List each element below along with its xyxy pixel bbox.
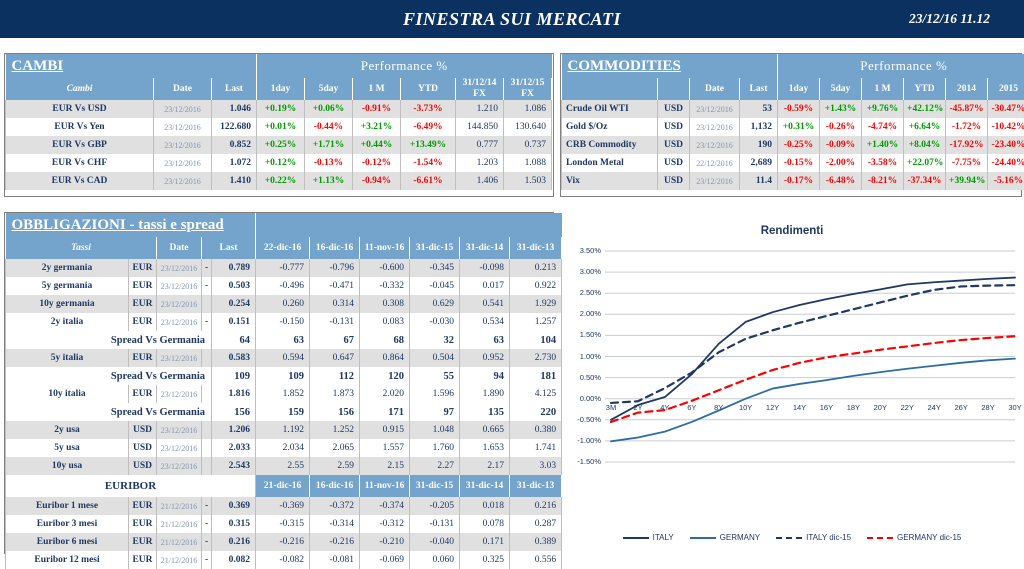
- bond-c5: 0.665: [460, 421, 510, 439]
- bond-c5: 0.541: [460, 295, 510, 313]
- col-header-commodity-name: [562, 78, 658, 100]
- table-row: 10y germaniaEUR23/12/20160.2540.2600.314…: [6, 295, 562, 313]
- bond-c4: -0.045: [410, 277, 460, 295]
- legend-item[interactable]: GERMANY dic-15: [867, 533, 961, 542]
- cambi-1day: +0.19%: [257, 100, 305, 118]
- euribor-sign: -: [202, 551, 212, 569]
- commodities-title-row: COMMODITIES Performance %: [562, 54, 1024, 78]
- bond-sign: [202, 349, 212, 367]
- chart-x-tick-label: 4Y: [653, 403, 677, 412]
- bond-date: 23/12/2016: [157, 385, 202, 403]
- bond-c5: 1.653: [460, 439, 510, 457]
- bond-sign: [202, 295, 212, 313]
- commodity-ytd: +8.04%: [904, 136, 946, 154]
- bond-c1: 1.192: [256, 421, 310, 439]
- commodity-last: 190: [740, 136, 778, 154]
- commodity-5day: -0.09%: [820, 136, 862, 154]
- euribor-currency: EUR: [129, 515, 157, 533]
- bond-last: 0.151: [212, 313, 256, 331]
- commodity-1day: +0.31%: [778, 118, 820, 136]
- bond-c3: 0.083: [360, 313, 410, 331]
- cambi-1m: -0.94%: [353, 172, 401, 190]
- table-row: EUR Vs GBP23/12/20160.852+0.25%+1.71%+0.…: [6, 136, 552, 154]
- cambi-1day: +0.01%: [257, 118, 305, 136]
- table-row: 10y italiaEUR23/12/20161.8161.8521.8732.…: [6, 385, 562, 403]
- cambi-1m: +0.44%: [353, 136, 401, 154]
- euribor-col-header-4: 31-dic-14: [460, 475, 510, 497]
- chart-x-tick-label: 18Y: [841, 403, 865, 412]
- col-header-comm-1m: 1 M: [862, 78, 904, 100]
- bond-c2: 1.252: [310, 421, 360, 439]
- bond-currency: EUR: [129, 295, 157, 313]
- euribor-c2: -0.081: [310, 551, 360, 569]
- commodity-2015: -24.40%: [988, 154, 1024, 172]
- bond-currency: USD: [129, 421, 157, 439]
- commodities-title: COMMODITIES: [562, 54, 778, 78]
- col-header-comm-ytd: YTD: [904, 78, 946, 100]
- legend-label: ITALY dic-15: [806, 533, 851, 542]
- spread-label: Spread Vs Germania: [6, 367, 212, 385]
- spread-c2: 112: [310, 367, 360, 385]
- cambi-fx14: 144.850: [456, 118, 504, 136]
- table-row: 5y germaniaEUR23/12/2016-0.503-0.496-0.4…: [6, 277, 562, 295]
- table-row: Gold $/OzUSD23/12/20161,132+0.31%-0.26%-…: [562, 118, 1024, 136]
- euribor-c3: -0.069: [360, 551, 410, 569]
- table-row: 10y usaUSD23/12/20162.5432.552.592.152.2…: [6, 457, 562, 475]
- bond-c2: 0.314: [310, 295, 360, 313]
- chart-x-tick-label: 3M: [599, 403, 623, 412]
- col-header-comm-last: Last: [740, 78, 778, 100]
- commodity-5day: -2.00%: [820, 154, 862, 172]
- cambi-last: 0.852: [212, 136, 257, 154]
- spread-label: Spread Vs Germania: [6, 403, 212, 421]
- euribor-c5: 0.325: [460, 551, 510, 569]
- cambi-5day: -0.44%: [305, 118, 353, 136]
- euribor-c2: -0.216: [310, 533, 360, 551]
- cambi-last: 122.680: [212, 118, 257, 136]
- commodity-5day: -6.48%: [820, 172, 862, 190]
- bond-c2: 2.065: [310, 439, 360, 457]
- chart-legend: ITALYGERMANYITALY dic-15GERMANY dic-15: [563, 533, 1021, 542]
- table-row: EUR Vs USD23/12/20161.046+0.19%+0.06%-0.…: [6, 100, 552, 118]
- col-header-fx15: 31/12/15 FX: [504, 78, 552, 100]
- commodity-name: Crude Oil WTI: [562, 100, 658, 118]
- chart-x-tick-label: 22Y: [895, 403, 919, 412]
- table-row: Euribor 12 mesiEUR21/12/2016-0.082-0.082…: [6, 551, 562, 569]
- euribor-col-header-5: 31-dic-13: [510, 475, 562, 497]
- bond-name: 5y italia: [6, 349, 129, 367]
- col-header-commodity-ccy: [658, 78, 690, 100]
- chart-series-germany: [611, 359, 1015, 442]
- commodity-1day: -0.25%: [778, 136, 820, 154]
- spread-c5: 63: [460, 331, 510, 349]
- cambi-1m: -0.91%: [353, 100, 401, 118]
- euribor-header-row: EURIBOR21-dic-1616-dic-1611-nov-1631-dic…: [6, 475, 562, 497]
- commodities-block: COMMODITIES Performance % Date Last 1day…: [560, 53, 1022, 197]
- bond-sign: [202, 439, 212, 457]
- commodities-performance-label: Performance %: [778, 54, 1024, 78]
- bond-currency: EUR: [129, 349, 157, 367]
- obbligazioni-block: OBBLIGAZIONI - tassi e spread Tassi Date…: [4, 212, 554, 554]
- commodity-date: 23/12/2016: [690, 118, 740, 136]
- chart-x-tick-label: 6Y: [680, 403, 704, 412]
- bond-c3: 0.864: [360, 349, 410, 367]
- spread-row: Spread Vs Germania15615915617197135220: [6, 403, 562, 421]
- euribor-c5: 0.171: [460, 533, 510, 551]
- euribor-c6: 0.216: [510, 497, 562, 515]
- euribor-name: Euribor 12 mesi: [6, 551, 129, 569]
- bond-date: 23/12/2016: [157, 457, 202, 475]
- chart-x-tick-label: 2Y: [626, 403, 650, 412]
- spread-c6: 181: [510, 367, 562, 385]
- chart-y-tick-label: -0.50%: [567, 415, 601, 424]
- bond-date: 23/12/2016: [157, 439, 202, 457]
- bond-sign: [202, 457, 212, 475]
- cambi-pair: EUR Vs GBP: [6, 136, 154, 154]
- commodity-currency: USD: [658, 136, 690, 154]
- cambi-date: 23/12/2016: [154, 118, 212, 136]
- commodity-date: 23/12/2016: [690, 136, 740, 154]
- spread-c4: 32: [410, 331, 460, 349]
- commodity-ytd: +22.07%: [904, 154, 946, 172]
- cambi-date: 23/12/2016: [154, 172, 212, 190]
- chart-x-tick-label: 16Y: [814, 403, 838, 412]
- bond-sign: -: [202, 259, 212, 277]
- chart-x-tick-label: 26Y: [949, 403, 973, 412]
- bond-last: 0.503: [212, 277, 256, 295]
- cambi-title-row: CAMBI Performance %: [6, 54, 552, 78]
- cambi-fx14: 1.203: [456, 154, 504, 172]
- cambi-fx14: 1.210: [456, 100, 504, 118]
- bond-currency: EUR: [129, 313, 157, 331]
- chart-y-tick-label: 0.50%: [567, 373, 601, 382]
- bond-c1: -0.777: [256, 259, 310, 277]
- commodity-name: Vix: [562, 172, 658, 190]
- bond-c4: -0.030: [410, 313, 460, 331]
- cambi-1m: +3.21%: [353, 118, 401, 136]
- col-header-comm-2015: 2015: [988, 78, 1024, 100]
- euribor-col-header-1: 16-dic-16: [310, 475, 360, 497]
- commodity-name: London Metal: [562, 154, 658, 172]
- bond-name: 10y usa: [6, 457, 129, 475]
- bond-currency: USD: [129, 457, 157, 475]
- euribor-sign: -: [202, 533, 212, 551]
- bond-c2: 2.59: [310, 457, 360, 475]
- col-header-obbl-date: Date: [157, 237, 202, 259]
- obbligazioni-title-row: OBBLIGAZIONI - tassi e spread: [6, 213, 562, 237]
- bond-c1: 0.260: [256, 295, 310, 313]
- col-header-obbl-last: Last: [202, 237, 256, 259]
- cambi-5day: +1.71%: [305, 136, 353, 154]
- commodity-5day: +1.43%: [820, 100, 862, 118]
- cambi-date: 23/12/2016: [154, 136, 212, 154]
- bond-c4: 0.504: [410, 349, 460, 367]
- bond-last: 1.206: [212, 421, 256, 439]
- commodity-1day: -0.59%: [778, 100, 820, 118]
- euribor-c5: 0.018: [460, 497, 510, 515]
- bond-c1: 0.594: [256, 349, 310, 367]
- bond-c2: -0.796: [310, 259, 360, 277]
- legend-label: GERMANY: [720, 533, 760, 542]
- spread-last: 156: [212, 403, 256, 421]
- euribor-c3: -0.374: [360, 497, 410, 515]
- col-header-cambi: Cambi: [6, 78, 154, 100]
- spread-c1: 159: [256, 403, 310, 421]
- bond-name: 5y usa: [6, 439, 129, 457]
- bond-last: 2.033: [212, 439, 256, 457]
- table-row: Euribor 1 meseEUR21/12/2016-0.369-0.369-…: [6, 497, 562, 515]
- commodity-name: CRB Commodity: [562, 136, 658, 154]
- bond-c4: 1.048: [410, 421, 460, 439]
- legend-swatch-icon: [690, 537, 716, 539]
- cambi-header-row: Cambi Date Last 1day 5day 1 M YTD 31/12/…: [6, 78, 552, 100]
- euribor-currency: EUR: [129, 497, 157, 515]
- commodity-2014: -17.92%: [946, 136, 988, 154]
- rendimenti-chart: Rendimenti -1.50%-1.00%-0.50%0.00%0.50%1…: [563, 213, 1021, 552]
- euribor-col-header-3: 31-dic-15: [410, 475, 460, 497]
- bond-c1: 1.852: [256, 385, 310, 403]
- col-header-ytd: YTD: [401, 78, 456, 100]
- bond-c6: 1.929: [510, 295, 562, 313]
- chart-y-tick-label: 1.50%: [567, 330, 601, 339]
- commodity-last: 53: [740, 100, 778, 118]
- bond-c1: 2.55: [256, 457, 310, 475]
- spread-c4: 97: [410, 403, 460, 421]
- chart-x-tick-label: 14Y: [788, 403, 812, 412]
- cambi-fx15: 1.088: [504, 154, 552, 172]
- euribor-c1: -0.082: [256, 551, 310, 569]
- spread-c3: 171: [360, 403, 410, 421]
- legend-item[interactable]: ITALY dic-15: [776, 533, 851, 542]
- cambi-5day: -0.13%: [305, 154, 353, 172]
- spread-row: Spread Vs Germania1091091121205594181: [6, 367, 562, 385]
- bond-last: 0.254: [212, 295, 256, 313]
- bond-c1: -0.150: [256, 313, 310, 331]
- bond-c6: 4.125: [510, 385, 562, 403]
- col-header-tassi: Tassi: [6, 237, 157, 259]
- spread-c5: 94: [460, 367, 510, 385]
- euribor-c2: -0.314: [310, 515, 360, 533]
- bond-c6: 0.213: [510, 259, 562, 277]
- cambi-fx14: 0.777: [456, 136, 504, 154]
- commodities-table: COMMODITIES Performance % Date Last 1day…: [561, 54, 1024, 190]
- spread-c6: 220: [510, 403, 562, 421]
- obbligazioni-title-filler: [256, 213, 562, 237]
- table-row: 5y usaUSD23/12/20162.0332.0342.0651.5571…: [6, 439, 562, 457]
- commodity-2015: -10.42%: [988, 118, 1024, 136]
- euribor-c1: -0.315: [256, 515, 310, 533]
- bond-sign: [202, 421, 212, 439]
- commodity-2014: +39.94%: [946, 172, 988, 190]
- chart-y-tick-label: 3.50%: [567, 246, 601, 255]
- bond-c5: 1.890: [460, 385, 510, 403]
- bond-date: 23/12/2016: [157, 421, 202, 439]
- bond-c4: 2.27: [410, 457, 460, 475]
- bond-c5: -0.098: [460, 259, 510, 277]
- euribor-date: 21/12/2016: [157, 515, 202, 533]
- cambi-title: CAMBI: [6, 54, 257, 78]
- cambi-pair: EUR Vs CAD: [6, 172, 154, 190]
- commodity-last: 2,689: [740, 154, 778, 172]
- cambi-date: 23/12/2016: [154, 154, 212, 172]
- euribor-date: 21/12/2016: [157, 551, 202, 569]
- obbligazioni-title: OBBLIGAZIONI - tassi e spread: [6, 213, 256, 237]
- cambi-last: 1.046: [212, 100, 257, 118]
- commodity-2014: -7.75%: [946, 154, 988, 172]
- chart-x-tick-label: 8Y: [707, 403, 731, 412]
- cambi-block: CAMBI Performance % Cambi Date Last 1day…: [4, 53, 554, 197]
- chart-y-tick-label: -1.00%: [567, 436, 601, 445]
- commodity-1m: -3.58%: [862, 154, 904, 172]
- cambi-fx15: 1.086: [504, 100, 552, 118]
- cambi-table: CAMBI Performance % Cambi Date Last 1day…: [5, 54, 552, 190]
- commodity-currency: USD: [658, 100, 690, 118]
- euribor-c6: 0.389: [510, 533, 562, 551]
- bond-c6: 1.257: [510, 313, 562, 331]
- chart-x-tick-label: 30Y: [1003, 403, 1024, 412]
- euribor-c3: -0.312: [360, 515, 410, 533]
- bond-sign: -: [202, 277, 212, 295]
- bond-c6: 2.730: [510, 349, 562, 367]
- cambi-ytd: -6.49%: [401, 118, 456, 136]
- euribor-c1: -0.369: [256, 497, 310, 515]
- euribor-last: 0.216: [212, 533, 256, 551]
- bond-c6: 3.03: [510, 457, 562, 475]
- legend-item[interactable]: GERMANY: [690, 533, 760, 542]
- table-row: London MetalUSD22/12/20162,689-0.15%-2.0…: [562, 154, 1024, 172]
- bond-c3: -0.332: [360, 277, 410, 295]
- spread-c6: 104: [510, 331, 562, 349]
- commodity-1m: +1.40%: [862, 136, 904, 154]
- commodity-last: 11.4: [740, 172, 778, 190]
- bond-last: 0.583: [212, 349, 256, 367]
- cambi-1day: +0.25%: [257, 136, 305, 154]
- commodity-1m: -8.21%: [862, 172, 904, 190]
- chart-x-tick-label: 20Y: [868, 403, 892, 412]
- spread-c1: 109: [256, 367, 310, 385]
- bond-sign: [202, 385, 212, 403]
- legend-swatch-icon: [867, 537, 893, 539]
- euribor-c5: 0.078: [460, 515, 510, 533]
- euribor-c4: -0.205: [410, 497, 460, 515]
- euribor-last: 0.315: [212, 515, 256, 533]
- bond-c1: -0.496: [256, 277, 310, 295]
- euribor-c2: -0.372: [310, 497, 360, 515]
- chart-y-tick-label: 0.00%: [567, 394, 601, 403]
- commodity-2015: -23.40%: [988, 136, 1024, 154]
- commodity-2014: -1.72%: [946, 118, 988, 136]
- cambi-fx15: 0.737: [504, 136, 552, 154]
- bond-last: 0.789: [212, 259, 256, 277]
- table-row: 2y usaUSD23/12/20161.2061.1921.2520.9151…: [6, 421, 562, 439]
- bond-c6: 0.922: [510, 277, 562, 295]
- commodity-currency: USD: [658, 118, 690, 136]
- banner-timestamp: 23/12/16 11.12: [909, 11, 990, 27]
- commodity-date: 23/12/2016: [690, 100, 740, 118]
- col-header-obbl-c1: 22-dic-16: [256, 237, 310, 259]
- bond-sign: -: [202, 313, 212, 331]
- commodity-1m: +9.76%: [862, 100, 904, 118]
- cambi-performance-label: Performance %: [257, 54, 552, 78]
- col-header-comm-2014: 2014: [946, 78, 988, 100]
- spread-c2: 67: [310, 331, 360, 349]
- commodity-2015: -30.47%: [988, 100, 1024, 118]
- euribor-sign: -: [202, 515, 212, 533]
- table-row: 2y germaniaEUR23/12/2016-0.789-0.777-0.7…: [6, 259, 562, 277]
- legend-label: GERMANY dic-15: [897, 533, 961, 542]
- cambi-ytd: -6.61%: [401, 172, 456, 190]
- bond-name: 5y germania: [6, 277, 129, 295]
- commodity-2014: -45.87%: [946, 100, 988, 118]
- euribor-name: Euribor 6 mesi: [6, 533, 129, 551]
- bond-name: 2y usa: [6, 421, 129, 439]
- cambi-fx15: 1.503: [504, 172, 552, 190]
- euribor-currency: EUR: [129, 533, 157, 551]
- bond-c3: 2.020: [360, 385, 410, 403]
- cambi-pair: EUR Vs USD: [6, 100, 154, 118]
- commodity-5day: -0.26%: [820, 118, 862, 136]
- commodity-currency: USD: [658, 172, 690, 190]
- bond-c4: 1.596: [410, 385, 460, 403]
- table-row: CRB CommodityUSD23/12/2016190-0.25%-0.09…: [562, 136, 1024, 154]
- bond-c3: 1.557: [360, 439, 410, 457]
- col-header-fx14: 31/12/14 FX: [456, 78, 504, 100]
- euribor-last: 0.369: [212, 497, 256, 515]
- euribor-name: Euribor 3 mesi: [6, 515, 129, 533]
- chart-plot-area: -1.50%-1.00%-0.50%0.00%0.50%1.00%1.50%2.…: [563, 213, 1021, 552]
- bond-date: 23/12/2016: [157, 259, 202, 277]
- bond-c4: 1.760: [410, 439, 460, 457]
- spread-c1: 63: [256, 331, 310, 349]
- col-header-obbl-c3: 11-nov-16: [360, 237, 410, 259]
- bond-c2: 0.647: [310, 349, 360, 367]
- spread-last: 64: [212, 331, 256, 349]
- bond-last: 1.816: [212, 385, 256, 403]
- obbligazioni-table: OBBLIGAZIONI - tassi e spread Tassi Date…: [5, 213, 562, 569]
- bond-currency: EUR: [129, 259, 157, 277]
- cambi-last: 1.410: [212, 172, 257, 190]
- spread-last: 109: [212, 367, 256, 385]
- cambi-date: 23/12/2016: [154, 100, 212, 118]
- bond-c5: 0.952: [460, 349, 510, 367]
- chart-y-tick-label: -1.50%: [567, 457, 601, 466]
- spread-c5: 135: [460, 403, 510, 421]
- euribor-c1: -0.216: [256, 533, 310, 551]
- chart-x-tick-label: 12Y: [761, 403, 785, 412]
- spread-label: Spread Vs Germania: [6, 331, 212, 349]
- chart-x-tick-label: 24Y: [922, 403, 946, 412]
- bond-name: 2y italia: [6, 313, 129, 331]
- page-title: FINESTRA SUI MERCATI: [0, 9, 1024, 30]
- bond-currency: USD: [129, 439, 157, 457]
- commodity-name: Gold $/Oz: [562, 118, 658, 136]
- bond-name: 10y germania: [6, 295, 129, 313]
- bond-c5: 2.17: [460, 457, 510, 475]
- col-header-last: Last: [212, 78, 257, 100]
- euribor-c4: -0.040: [410, 533, 460, 551]
- euribor-col-header-2: 11-nov-16: [360, 475, 410, 497]
- spread-c2: 156: [310, 403, 360, 421]
- legend-item[interactable]: ITALY: [623, 533, 674, 542]
- spread-row: Spread Vs Germania646367683263104: [6, 331, 562, 349]
- spread-c4: 55: [410, 367, 460, 385]
- commodity-last: 1,132: [740, 118, 778, 136]
- table-row: 2y italiaEUR23/12/2016-0.151-0.150-0.131…: [6, 313, 562, 331]
- commodity-ytd: +42.12%: [904, 100, 946, 118]
- bond-date: 23/12/2016: [157, 349, 202, 367]
- bond-name: 10y italia: [6, 385, 129, 403]
- col-header-obbl-c6: 31-dic-13: [510, 237, 562, 259]
